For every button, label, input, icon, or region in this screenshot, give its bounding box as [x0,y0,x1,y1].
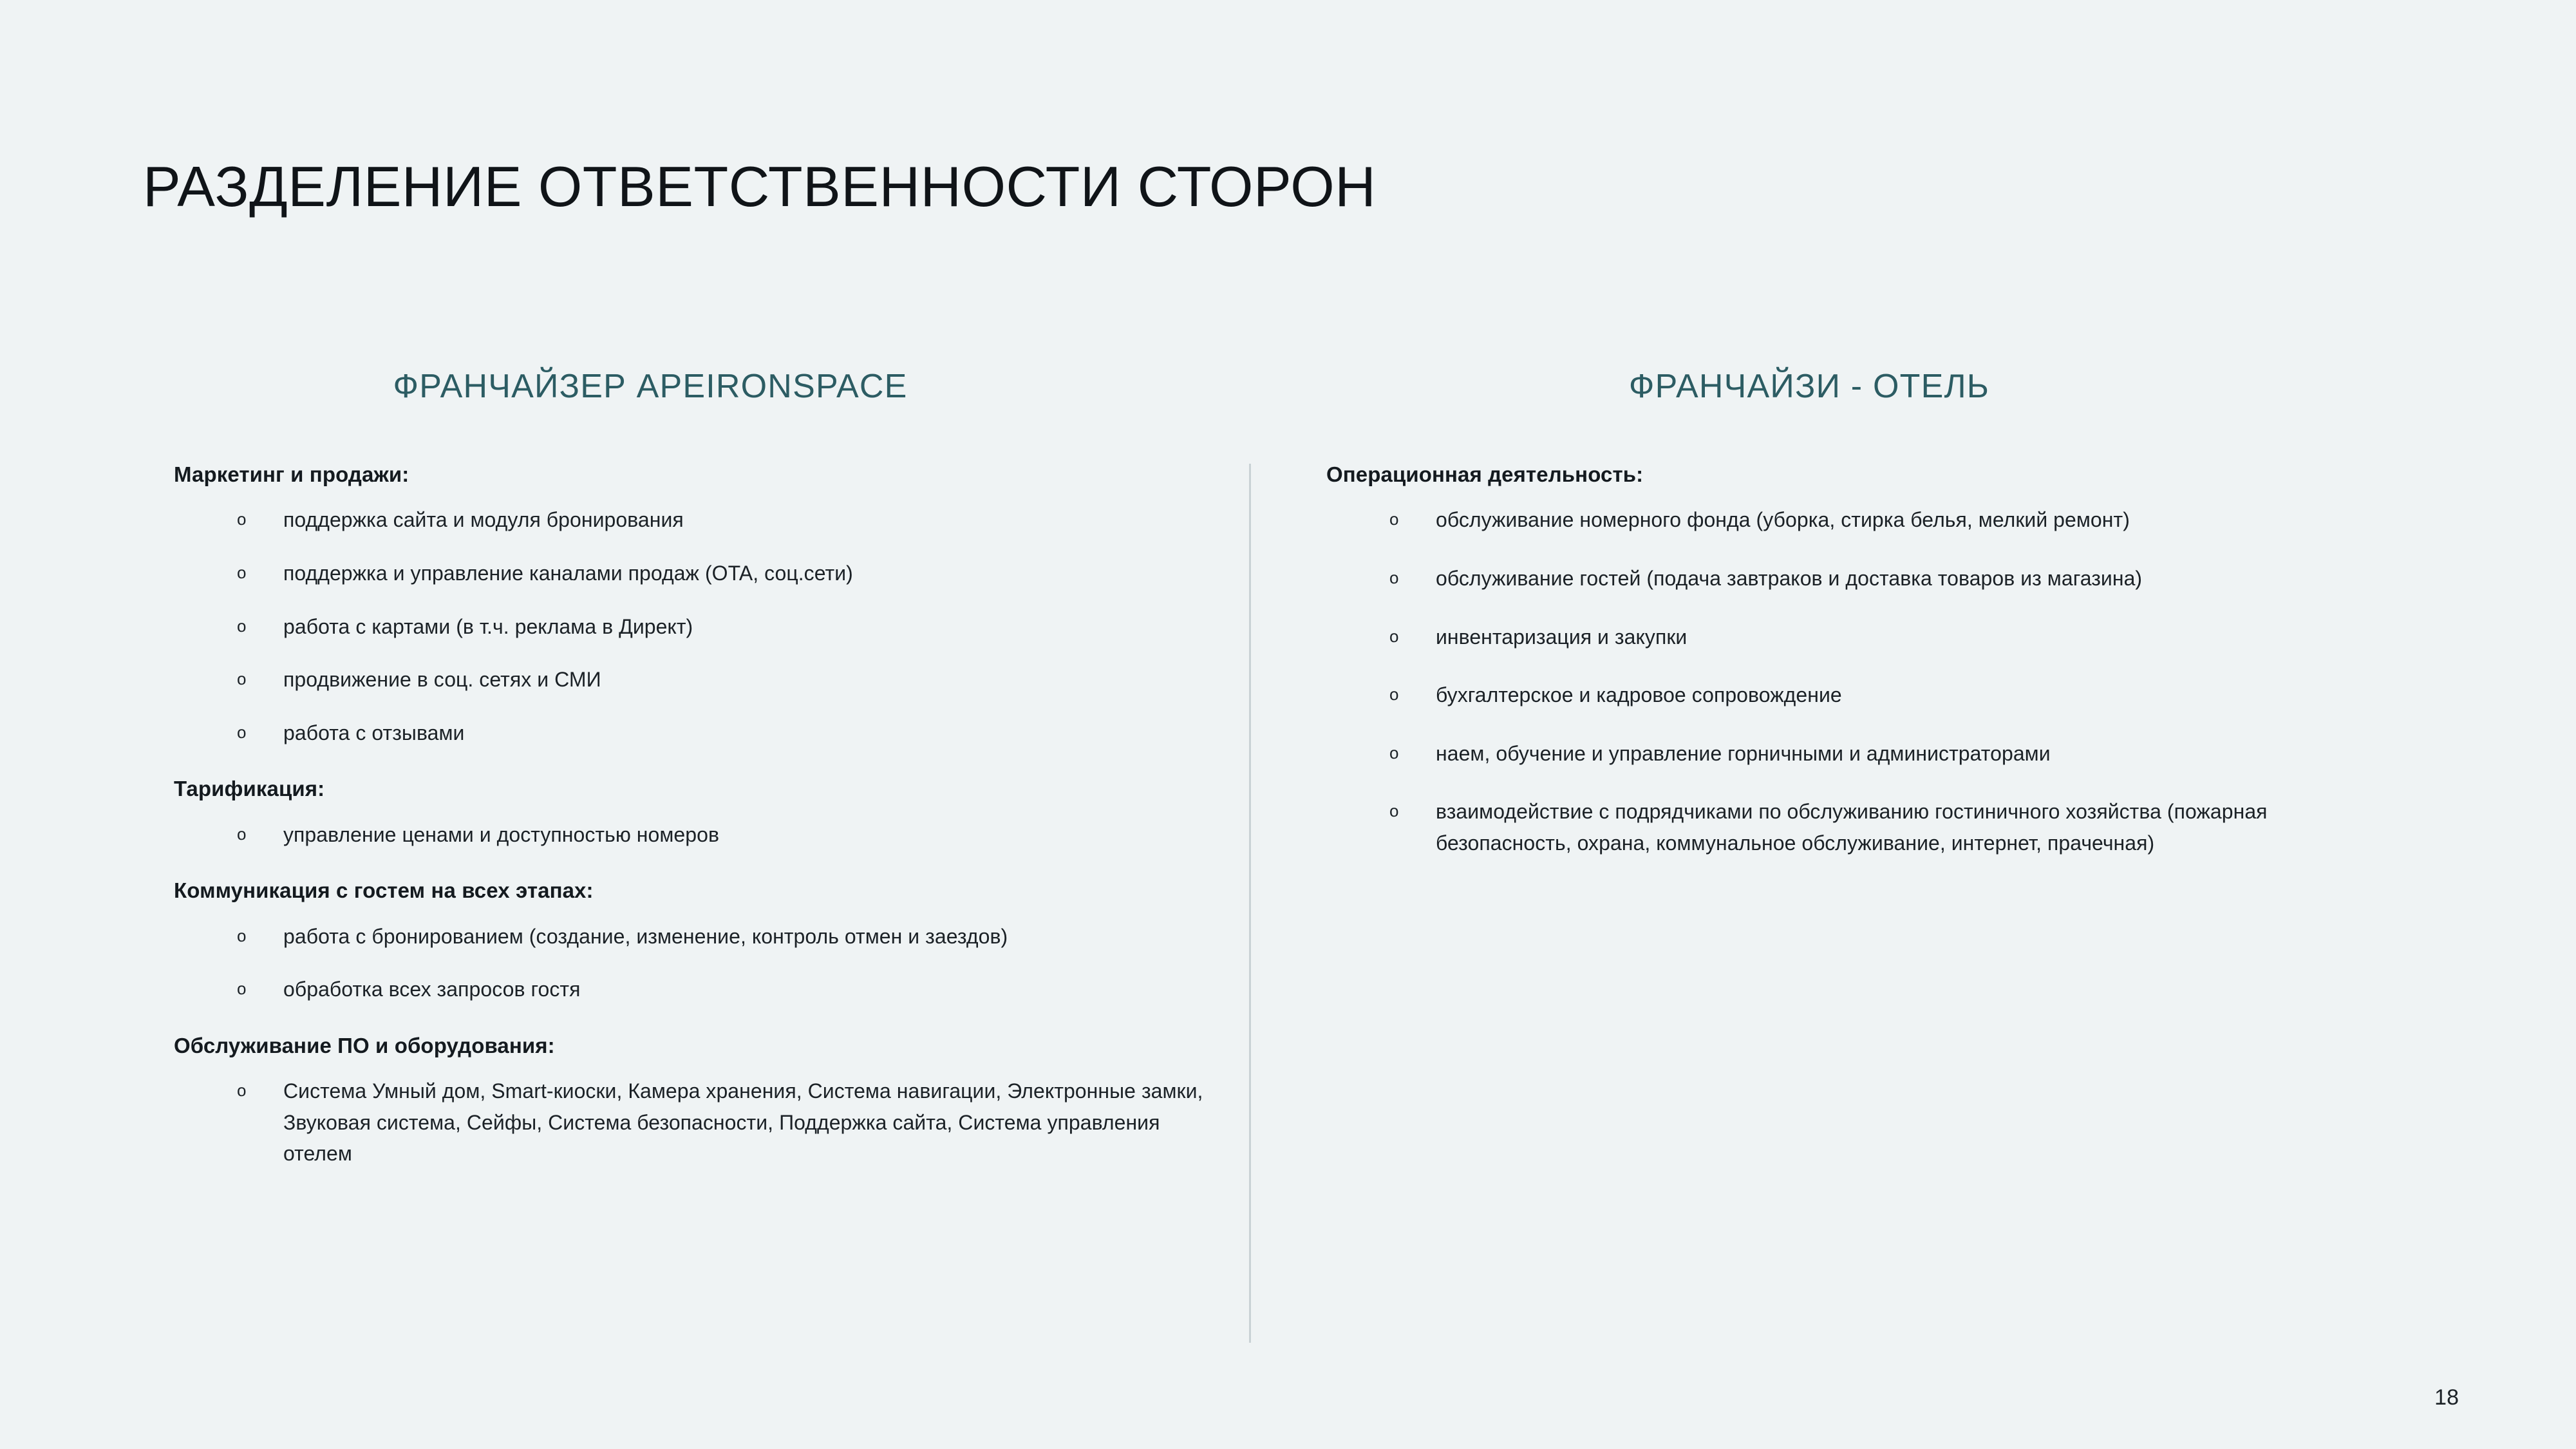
list-item: o Система Умный дом, Smart-киоски, Камер… [174,1075,1204,1170]
bullet-circle-icon: o [1389,563,1399,593]
bullet-circle-icon: o [237,718,247,748]
list-item: o поддержка сайта и модуля бронирования [174,504,1204,536]
group-communication: Коммуникация с гостем на всех этапах: o … [174,877,1204,1005]
column-header-franchisee: ФРАНЧАЙЗИ - ОТЕЛЬ [1326,367,2395,406]
list-item: o поддержка и управление каналами продаж… [174,558,1204,589]
list-item-text: работа с бронированием (создание, измене… [283,925,1008,948]
list-item-text: Система Умный дом, Smart-киоски, Камера … [283,1079,1203,1165]
list-item-text: обработка всех запросов гостя [283,978,580,1001]
bullet-circle-icon: o [237,612,247,641]
bullet-circle-icon: o [237,922,247,951]
bullet-circle-icon: o [1389,505,1399,535]
bullet-circle-icon: o [237,1076,247,1106]
bullet-circle-icon: o [237,974,247,1004]
bullet-circle-icon: o [1389,739,1399,768]
list-item: o обработка всех запросов гостя [174,974,1204,1005]
list-item: o обслуживание гостей (подача завтраков … [1326,563,2395,594]
group-title: Маркетинг и продажи: [174,461,1204,488]
list-item: o взаимодействие с подрядчиками по обслу… [1326,796,2395,858]
page-number: 18 [2434,1385,2459,1410]
group-title: Операционная деятельность: [1326,461,2395,488]
list-item: o обслуживание номерного фонда (уборка, … [1326,504,2395,536]
columns-container: ФРАНЧАЙЗЕР APEIRONSPACE Маркетинг и прод… [0,367,2576,1372]
list-item-text: бухгалтерское и кадровое сопровождение [1436,683,1842,706]
list-item: o продвижение в соц. сетях и СМИ [174,664,1204,696]
group-title: Тарификация: [174,775,1204,802]
list-item-text: поддержка сайта и модуля бронирования [283,508,684,531]
list-item-text: наем, обучение и управление горничными и… [1436,742,2051,765]
page-title: РАЗДЕЛЕНИЕ ОТВЕТСТВЕННОСТИ СТОРОН [143,157,1376,216]
list-item-text: взаимодействие с подрядчиками по обслужи… [1436,800,2268,855]
bullet-list: o работа с бронированием (создание, изме… [174,921,1204,1005]
list-item-text: работа с отзывами [283,721,464,744]
list-item-text: работа с картами (в т.ч. реклама в Дирек… [283,615,693,638]
column-franchisor: ФРАНЧАЙЗЕР APEIRONSPACE Маркетинг и прод… [174,367,1204,1170]
list-item-text: инвентаризация и закупки [1436,625,1687,649]
bullet-list: o поддержка сайта и модуля бронирования … [174,504,1204,748]
list-item: o управление ценами и доступностью номер… [174,819,1204,851]
group-title: Коммуникация с гостем на всех этапах: [174,877,1204,904]
list-item-text: обслуживание номерного фонда (уборка, ст… [1436,508,2130,531]
group-marketing: Маркетинг и продажи: o поддержка сайта и… [174,461,1204,748]
bullet-circle-icon: o [1389,622,1399,652]
bullet-circle-icon: o [1389,680,1399,710]
list-item: o работа с бронированием (создание, изме… [174,921,1204,952]
bullet-circle-icon: o [237,505,247,535]
list-item-text: обслуживание гостей (подача завтраков и … [1436,567,2142,590]
list-item: o бухгалтерское и кадровое сопровождение [1326,679,2395,711]
group-software-maintenance: Обслуживание ПО и оборудования: o Систем… [174,1032,1204,1170]
list-item: o работа с отзывами [174,717,1204,749]
list-item: o работа с картами (в т.ч. реклама в Дир… [174,611,1204,643]
bullet-list: o Система Умный дом, Smart-киоски, Камер… [174,1075,1204,1170]
list-item-text: управление ценами и доступностью номеров [283,823,719,846]
bullet-circle-icon: o [1389,797,1399,826]
column-franchisee: ФРАНЧАЙЗИ - ОТЕЛЬ Операционная деятельно… [1326,367,2395,886]
bullet-circle-icon: o [237,820,247,849]
slide-root: РАЗДЕЛЕНИЕ ОТВЕТСТВЕННОСТИ СТОРОН ФРАНЧА… [0,0,2576,1449]
list-item-text: продвижение в соц. сетях и СМИ [283,668,601,691]
bullet-list: o управление ценами и доступностью номер… [174,819,1204,851]
list-item-text: поддержка и управление каналами продаж (… [283,562,853,585]
group-operations: Операционная деятельность: o обслуживани… [1326,461,2395,859]
group-title: Обслуживание ПО и оборудования: [174,1032,1204,1059]
column-header-franchisor: ФРАНЧАЙЗЕР APEIRONSPACE [174,367,1204,406]
group-tariffication: Тарификация: o управление ценами и досту… [174,775,1204,850]
bullet-circle-icon: o [237,665,247,694]
bullet-circle-icon: o [237,558,247,588]
list-item: o инвентаризация и закупки [1326,621,2395,653]
bullet-list: o обслуживание номерного фонда (уборка, … [1326,504,2395,858]
list-item: o наем, обучение и управление горничными… [1326,738,2395,770]
